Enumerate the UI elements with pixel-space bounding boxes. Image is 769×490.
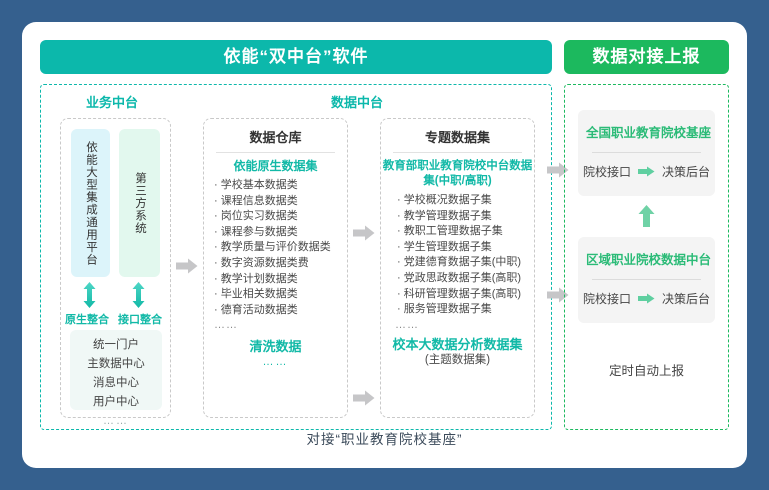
list-item: 科研管理数据子集(高职)	[397, 287, 534, 303]
warehouse-divider	[216, 152, 335, 153]
reporting-box-row: 院校接口 决策后台	[586, 290, 707, 307]
reporting-right-label: 决策后台	[662, 163, 710, 180]
diagram-canvas: 依能“双中台”软件 业务中台 数据中台 依能大型集成通用平台 第三方系统	[0, 0, 769, 490]
bidirectional-arrow-icon-1	[132, 282, 145, 308]
list-item: 德育活动数据类	[214, 303, 347, 319]
reporting-box-title: 全国职业教育院校基座	[586, 122, 707, 141]
business-platform-column: 依能大型集成通用平台 第三方系统 原生整合 接口整合	[60, 118, 171, 418]
reporting-left-label: 院校接口	[583, 290, 631, 307]
reporting-box-divider	[592, 152, 701, 153]
warehouse-subtitle: 依能原生数据集	[204, 159, 347, 174]
portal-item-0: 统一门户	[70, 336, 162, 355]
bidirectional-arrow-icon-0	[83, 282, 96, 308]
reporting-box-divider	[592, 279, 701, 280]
integration-label-native: 原生整合	[65, 311, 109, 327]
section-title-business: 业务中台	[86, 92, 138, 111]
list-item: 课程信息数据类	[214, 194, 347, 210]
thematic-item-list: 学校概况数据子集 教学管理数据子集 教职工管理数据子集 学生管理数据子集 党建德…	[381, 193, 534, 318]
reporting-box-title: 区域职业院校数据中台	[586, 249, 707, 268]
list-item: 数字资源数据类费	[214, 256, 347, 272]
left-panel: 依能“双中台”软件 业务中台 数据中台 依能大型集成通用平台 第三方系统	[40, 40, 552, 430]
list-item: 教学计划数据类	[214, 272, 347, 288]
list-item: 教职工管理数据子集	[397, 224, 534, 240]
list-item: 服务管理数据子集	[397, 302, 534, 318]
diagram-caption: 对接“职业教育院校基座”	[22, 428, 747, 448]
list-item: 学校基本数据类	[214, 178, 347, 194]
list-item: 学生管理数据子集	[397, 240, 534, 256]
list-item: 课程参与数据类	[214, 225, 347, 241]
warehouse-title: 数据仓库	[204, 119, 347, 152]
portal-item-2: 消息中心	[70, 374, 162, 393]
arrow-up-icon-green	[638, 205, 655, 227]
list-item: 教学质量与评价数据类	[214, 240, 347, 256]
list-item: 党建德育数据子集(中职)	[397, 255, 534, 271]
white-card: 依能“双中台”软件 业务中台 数据中台 依能大型集成通用平台 第三方系统	[22, 22, 747, 468]
list-item: 岗位实习数据类	[214, 209, 347, 225]
arrow-right-icon-small-0	[638, 166, 655, 177]
thematic-footer-sub: (主题数据集)	[381, 353, 534, 368]
integration-label-interface: 接口整合	[118, 311, 162, 327]
thematic-subtitle: 教育部职业教育院校中台数据集(中职/高职)	[381, 159, 534, 189]
list-item: 党政思政数据子集(高职)	[397, 271, 534, 287]
thematic-ellipsis: ……	[381, 318, 534, 332]
arrow-right-icon-small-1	[638, 293, 655, 304]
arrow-right-icon-business-to-warehouse	[176, 258, 198, 274]
thematic-title: 专题数据集	[381, 119, 534, 152]
list-item: 毕业相关数据类	[214, 287, 347, 303]
warehouse-footer: 清洗数据	[204, 338, 347, 355]
thematic-divider	[393, 152, 522, 153]
portal-item-1: 主数据中心	[70, 355, 162, 374]
list-item: 教学管理数据子集	[397, 209, 534, 225]
arrow-right-icon-warehouse-to-thematic-top	[353, 225, 375, 241]
reporting-left-label: 院校接口	[583, 163, 631, 180]
thematic-dataset-column: 专题数据集 教育部职业教育院校中台数据集(中职/高职) 学校概况数据子集 教学管…	[380, 118, 535, 418]
section-title-data: 数据中台	[331, 92, 383, 111]
reporting-box-national: 全国职业教育院校基座 院校接口 决策后台	[578, 110, 715, 196]
right-panel-header: 数据对接上报	[564, 40, 729, 74]
right-panel: 数据对接上报 全国职业教育院校基座 院校接口 决策后台 区域职业院校数据中台	[564, 40, 729, 430]
arrow-right-icon-warehouse-to-thematic-bottom	[353, 390, 375, 406]
portal-item-3: 用户中心	[70, 393, 162, 412]
warehouse-item-list: 学校基本数据类 课程信息数据类 岗位实习数据类 课程参与数据类 教学质量与评价数…	[204, 178, 347, 318]
reporting-box-regional: 区域职业院校数据中台 院校接口 决策后台	[578, 237, 715, 323]
auto-report-label: 定时自动上报	[564, 360, 729, 379]
data-warehouse-column: 数据仓库 依能原生数据集 学校基本数据类 课程信息数据类 岗位实习数据类 课程参…	[203, 118, 348, 418]
vertical-box-0: 依能大型集成通用平台	[71, 129, 110, 277]
list-item: 学校概况数据子集	[397, 193, 534, 209]
vertical-box-1: 第三方系统	[119, 129, 160, 277]
reporting-right-label: 决策后台	[662, 290, 710, 307]
warehouse-footer-dots: ……	[204, 355, 347, 369]
left-panel-header: 依能“双中台”软件	[40, 40, 552, 74]
reporting-box-row: 院校接口 决策后台	[586, 163, 707, 180]
portal-box: 统一门户 主数据中心 消息中心 用户中心 ……	[70, 330, 162, 410]
warehouse-ellipsis: ……	[204, 318, 347, 332]
thematic-footer: 校本大数据分析数据集	[381, 336, 534, 353]
